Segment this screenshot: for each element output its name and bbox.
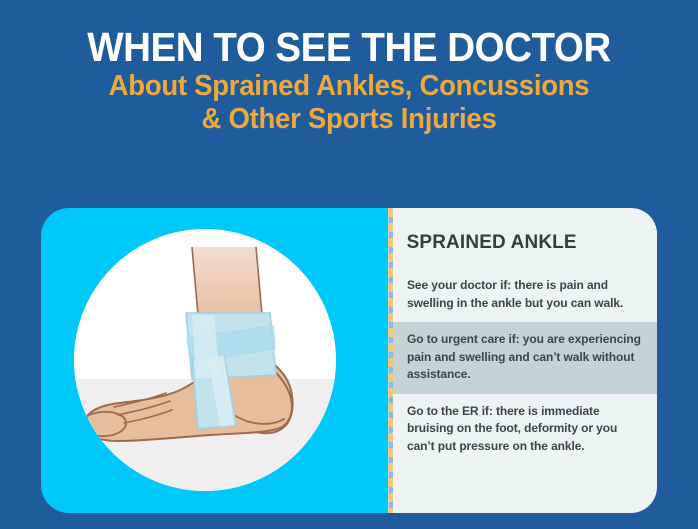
page-subtitle-line-1: About Sprained Ankles, Concussions — [17, 70, 680, 103]
tip-go-to-urgent-care: Go to urgent care if: you are experienci… — [393, 322, 657, 394]
infographic-page: WHEN TO SEE THE DOCTOR About Sprained An… — [0, 0, 698, 529]
sprained-ankle-card: SPRAINED ANKLE See your doctor if: there… — [41, 208, 657, 513]
tip-go-to-the-er: Go to the ER if: there is immediate brui… — [393, 394, 657, 466]
bandaged-ankle-illustration — [74, 229, 336, 491]
illustration-circle — [74, 229, 336, 491]
heading-spacer — [393, 254, 657, 268]
page-title: WHEN TO SEE THE DOCTOR — [21, 24, 677, 70]
card-text-panel: SPRAINED ANKLE See your doctor if: there… — [393, 208, 657, 513]
header: WHEN TO SEE THE DOCTOR About Sprained An… — [0, 24, 698, 136]
panel-heading: SPRAINED ANKLE — [393, 208, 649, 254]
card-image-panel — [41, 208, 389, 513]
tip-see-your-doctor: See your doctor if: there is pain and sw… — [393, 268, 657, 322]
page-subtitle-line-2: & Other Sports Injuries — [17, 103, 680, 136]
